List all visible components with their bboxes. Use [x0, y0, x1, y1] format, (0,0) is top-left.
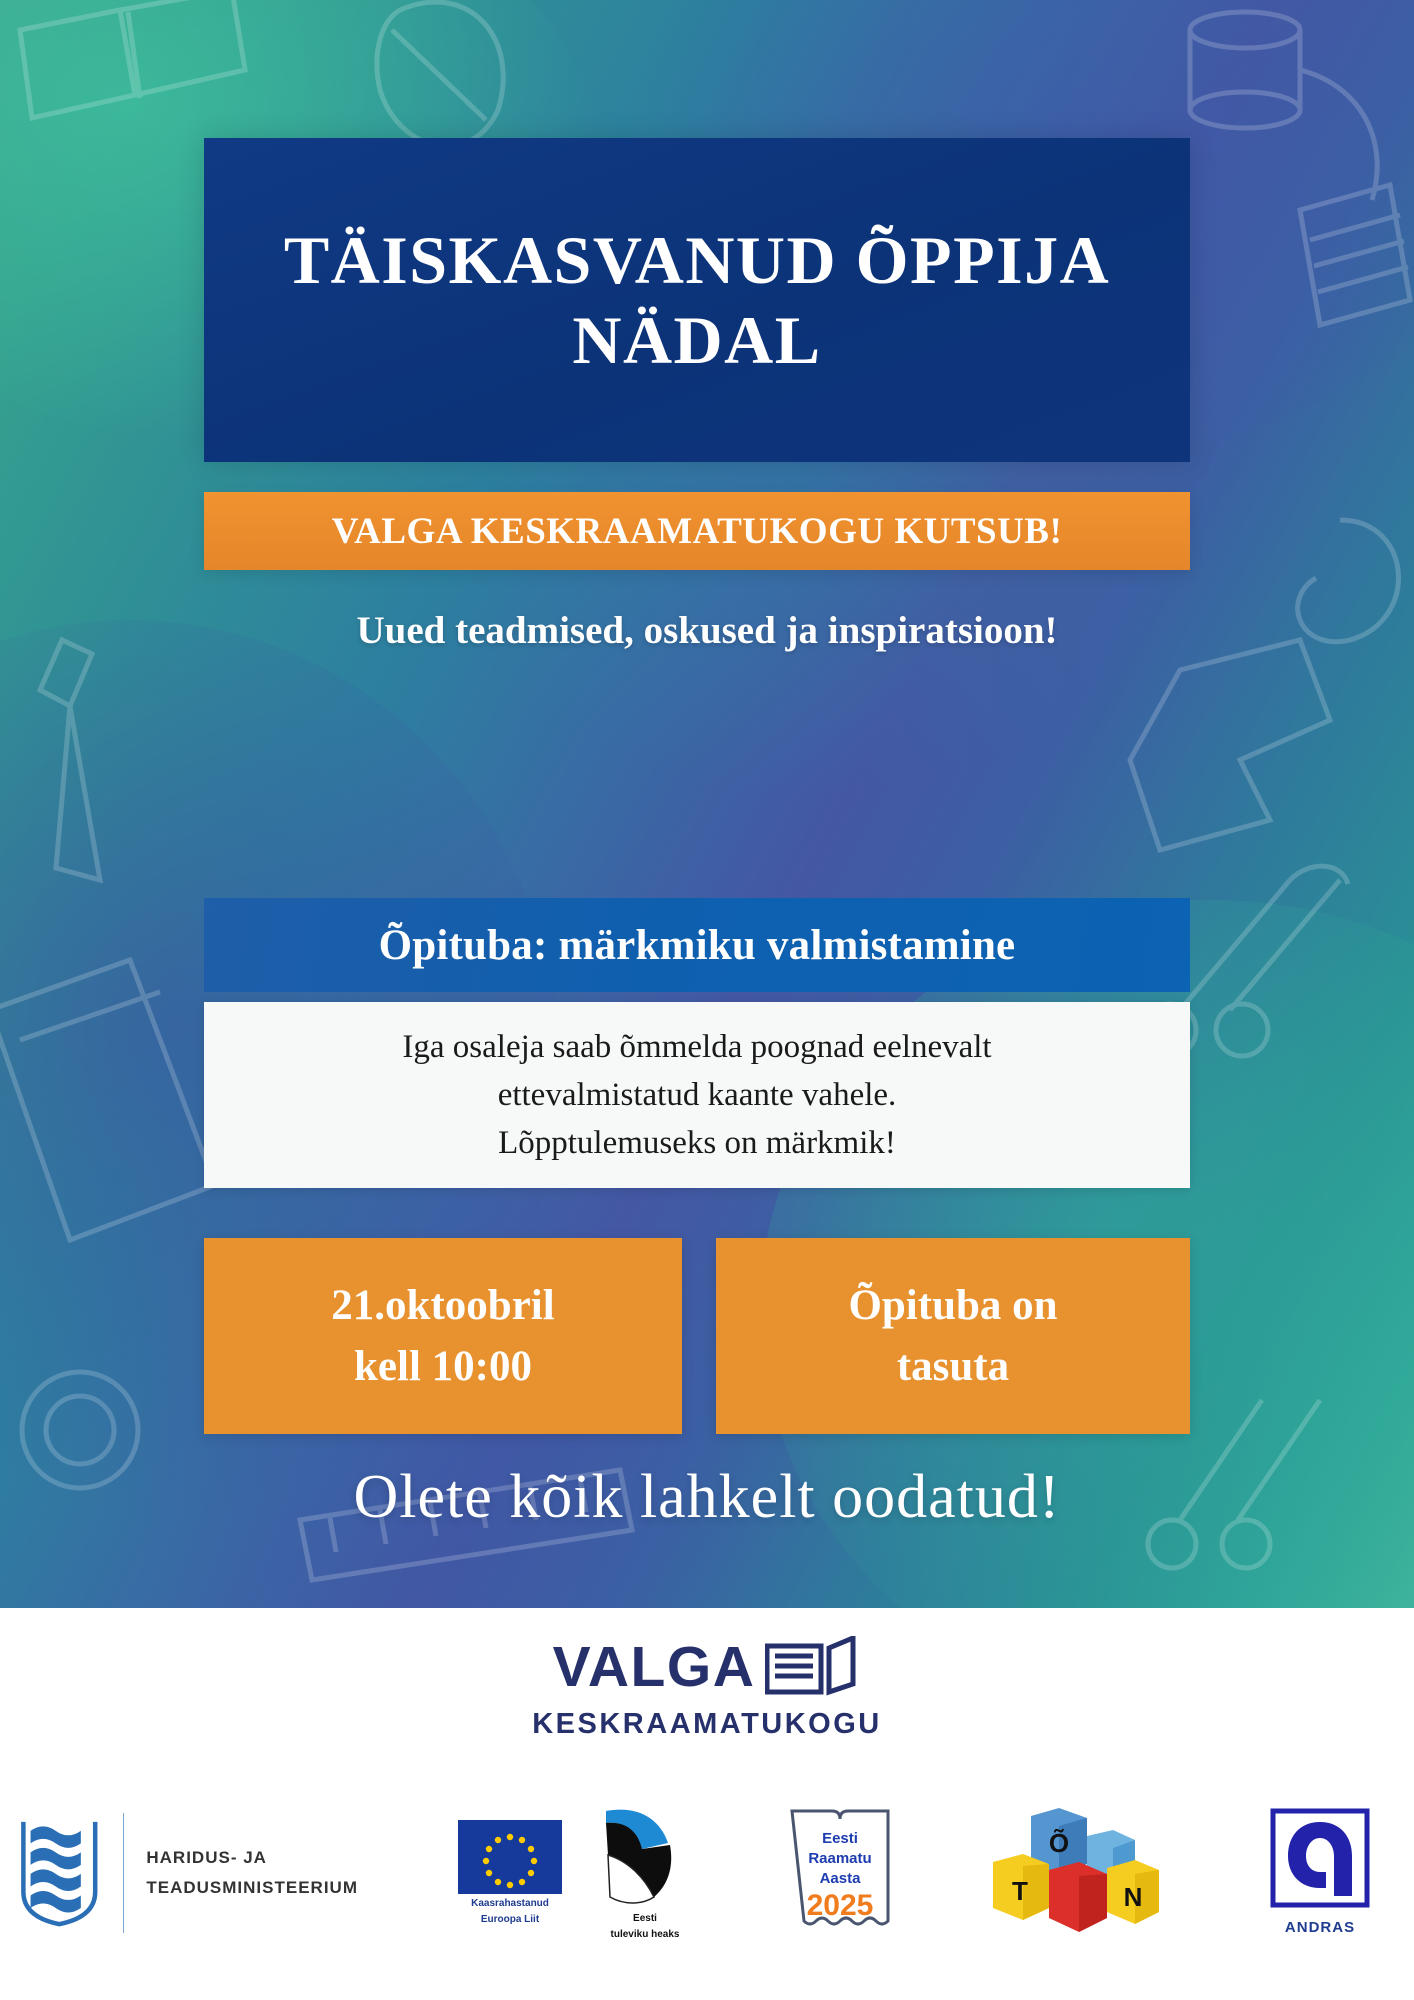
andras-label: ANDRAS — [1285, 1919, 1355, 1938]
alphabet-blocks-icon: Õ T N — [987, 1808, 1163, 1938]
closing-invitation: Olete kõik lahkelt oodatud! — [0, 1462, 1414, 1533]
poster-title-box: TÄISKASVANUD ÕPPIJA NÄDAL — [204, 138, 1190, 462]
eu-caption-2: Euroopa Liit — [481, 1914, 539, 1927]
page-title: TÄISKASVANUD ÕPPIJA NÄDAL — [204, 220, 1190, 380]
library-logo: VALGA KESKRAAMATUKOGU — [0, 1636, 1414, 1741]
partner-andras: ANDRAS — [1250, 1798, 1390, 1948]
partner-taiskasvanud-oppija-nadal: Õ T N — [980, 1798, 1170, 1948]
info-box-date-time: 21.oktoobril kell 10:00 — [204, 1238, 682, 1434]
ministry-line-2: TEADUSMINISTEERIUM — [146, 1873, 358, 1903]
partner-logo-row: HARIDUS- JA TEADUSMINISTEERIUM — [0, 1798, 1414, 1948]
poster: TÄISKASVANUD ÕPPIJA NÄDAL VALGA KESKRAAM… — [0, 0, 1414, 2000]
orange-banner-label: VALGA KESKRAAMATUKOGU KUTSUB! — [332, 510, 1063, 553]
workshop-description-box: Iga osaleja saab õmmelda poognad eelneva… — [204, 1002, 1190, 1188]
raamatu-line-3: Aasta — [820, 1870, 862, 1887]
eu-flag-icon — [458, 1820, 562, 1894]
info-line: 21.oktoobril — [331, 1275, 554, 1336]
estonian-coat-of-arms-icon — [18, 1812, 101, 1934]
info-line: Õpituba on — [848, 1275, 1057, 1336]
svg-text:T: T — [1012, 1876, 1028, 1906]
andras-logo-icon — [1270, 1808, 1370, 1916]
info-line: kell 10:00 — [354, 1336, 532, 1397]
workshop-title-band: Õpituba: märkmiku valmistamine — [204, 898, 1190, 992]
description-line: ettevalmistatud kaante vahele. — [498, 1071, 897, 1119]
orange-banner: VALGA KESKRAAMATUKOGU KUTSUB! — [204, 492, 1190, 570]
info-line: tasuta — [897, 1336, 1009, 1397]
est-caption-1: Eesti — [633, 1913, 657, 1926]
partner-european-union: Kaasrahastanud Euroopa Liit — [430, 1798, 590, 1948]
workshop-title-label: Õpituba: märkmiku valmistamine — [379, 921, 1016, 970]
partner-eesti-tulevikku: Eesti tuleviku heaks — [580, 1798, 710, 1948]
logo-divider — [123, 1813, 125, 1933]
poster-footer: VALGA KESKRAAMATUKOGU — [0, 1608, 1414, 2000]
description-line: Lõpptulemuseks on märkmik! — [498, 1119, 896, 1167]
open-book-icon — [765, 1636, 861, 1698]
info-box-price: Õpituba on tasuta — [716, 1238, 1190, 1434]
poster-subtitle: Uued teadmised, oskused ja inspiratsioon… — [0, 608, 1414, 653]
partner-eesti-raamatu-aasta: Eesti Raamatu Aasta 2025 — [770, 1798, 910, 1948]
poster-background: TÄISKASVANUD ÕPPIJA NÄDAL VALGA KESKRAAM… — [0, 0, 1414, 1608]
raamatu-year: 2025 — [807, 1889, 874, 1922]
svg-text:N: N — [1124, 1882, 1143, 1912]
svg-text:Õ: Õ — [1049, 1828, 1069, 1858]
description-line: Iga osaleja saab õmmelda poognad eelneva… — [402, 1023, 991, 1071]
estonian-flag-swoosh-icon — [598, 1805, 692, 1909]
est-caption-2: tuleviku heaks — [611, 1929, 680, 1942]
library-logo-name: VALGA — [553, 1639, 756, 1696]
ministry-line-1: HARIDUS- JA — [146, 1843, 358, 1873]
library-logo-subname: KESKRAAMATUKOGU — [532, 1708, 882, 1741]
eu-caption-1: Kaasrahastanud — [471, 1898, 549, 1911]
raamatu-line-1: Eesti — [822, 1830, 858, 1847]
raamatu-line-2: Raamatu — [808, 1850, 871, 1867]
partner-haridus-ja-teadusministeerium: HARIDUS- JA TEADUSMINISTEERIUM — [18, 1798, 358, 1948]
book-badge-icon: Eesti Raamatu Aasta 2025 — [784, 1805, 896, 1941]
